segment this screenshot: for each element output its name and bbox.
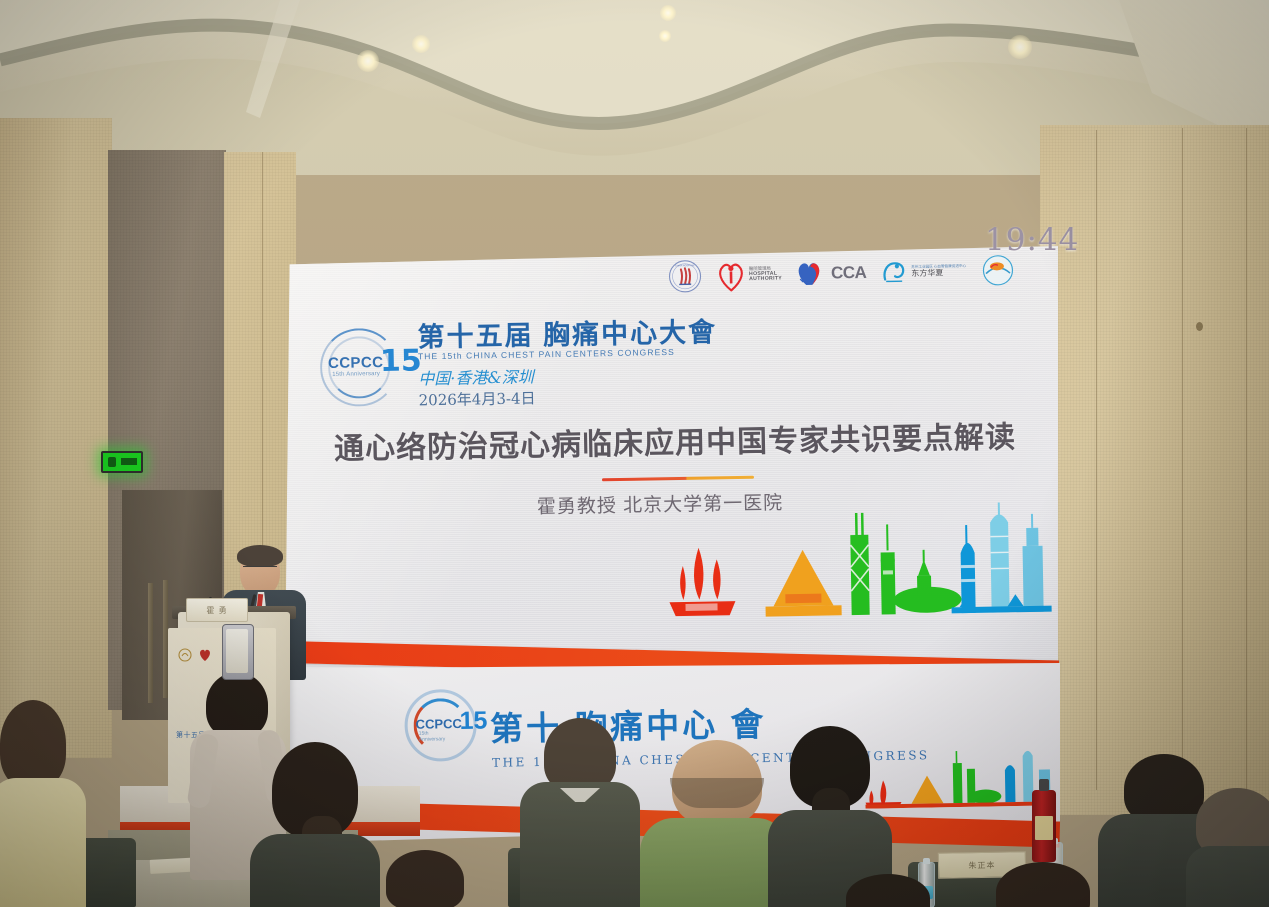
sponsor-cn-label: 东方华夏 xyxy=(911,269,966,279)
wall-fixture xyxy=(1196,322,1203,331)
pyramid-temple-icon xyxy=(765,549,842,616)
medical-association-logo: 苏州工业园区 心血管健康促进中心 东方华夏 xyxy=(881,258,966,286)
rollup-banner-logos xyxy=(178,648,212,662)
audience-member xyxy=(1186,788,1269,907)
exit-sign xyxy=(101,451,143,473)
ceiling-spotlight xyxy=(1008,35,1032,59)
audience-member xyxy=(842,874,938,907)
audience-hair xyxy=(846,874,930,907)
event-city: 中国·香港&深圳 xyxy=(418,363,534,389)
city-skyline-illustration xyxy=(654,502,1056,649)
audience-member xyxy=(378,850,470,907)
podium-nameplate: 霍 勇 xyxy=(186,598,248,622)
audience-member xyxy=(0,700,96,907)
audience-member xyxy=(250,742,380,907)
ccpcc-anniversary: 15th Anniversary xyxy=(332,371,380,378)
flag-pole xyxy=(148,583,153,703)
fire-extinguisher xyxy=(1032,790,1056,862)
cca-logo: CCA xyxy=(797,260,867,287)
hospital-authority-logo: 醫院管理局 HOSPITAL AUTHORITY xyxy=(717,258,783,291)
smartphone-screen xyxy=(226,629,248,673)
backdrop-edition-number: 15 xyxy=(459,707,487,736)
svg-text:CHINA HOSPITAL: CHINA HOSPITAL xyxy=(675,264,695,267)
conference-photo: 19:44 CHINA HOSPITAL 醫院管理局 HOSPITAL AUTH… xyxy=(0,0,1269,907)
backdrop-anniversary: 15th Anniversary xyxy=(419,730,446,742)
audience-hair xyxy=(386,850,464,907)
backdrop-skyline-illustration xyxy=(864,743,1055,808)
audience-member xyxy=(520,718,640,907)
wall-left xyxy=(0,118,112,758)
ceiling-spotlight xyxy=(660,5,676,21)
presenter-glasses xyxy=(243,566,277,573)
audience-body xyxy=(1186,846,1269,907)
audience-body xyxy=(0,778,86,907)
green-dome-icon xyxy=(893,549,962,613)
hospital-emblem-logo: CHINA HOSPITAL xyxy=(668,259,703,294)
ceiling-spotlight xyxy=(357,50,379,72)
cyan-tower-icon xyxy=(990,502,1010,612)
ceiling-spotlight xyxy=(412,35,430,53)
clock-tower-icon xyxy=(880,524,896,614)
junk-boat-icon xyxy=(669,547,736,616)
audience-member xyxy=(990,862,1100,907)
audience-hair xyxy=(996,862,1090,907)
audience-body xyxy=(250,834,380,907)
ccpcc-acronym: CCPCC xyxy=(328,354,384,372)
light-blue-tower-icon xyxy=(1022,514,1044,612)
cca-label: CCA xyxy=(831,263,867,284)
sponsor-logo-strip: CHINA HOSPITAL 醫院管理局 HOSPITAL AUTHORITY … xyxy=(668,248,1049,297)
event-logo: CCPCC 15th Anniversary 15 第十五届 胸痛中心大會 TH… xyxy=(317,309,679,413)
event-date: 2026年4月3-4日 xyxy=(418,387,535,410)
ceiling-spotlight xyxy=(659,30,671,42)
audience-hair xyxy=(0,700,66,788)
audience-hair xyxy=(544,718,616,792)
green-tower-icon xyxy=(850,513,870,615)
presenter-hair xyxy=(237,545,283,567)
ccpcc-edition-number: 15 xyxy=(380,343,422,379)
circular-badge-logo xyxy=(981,254,1016,287)
